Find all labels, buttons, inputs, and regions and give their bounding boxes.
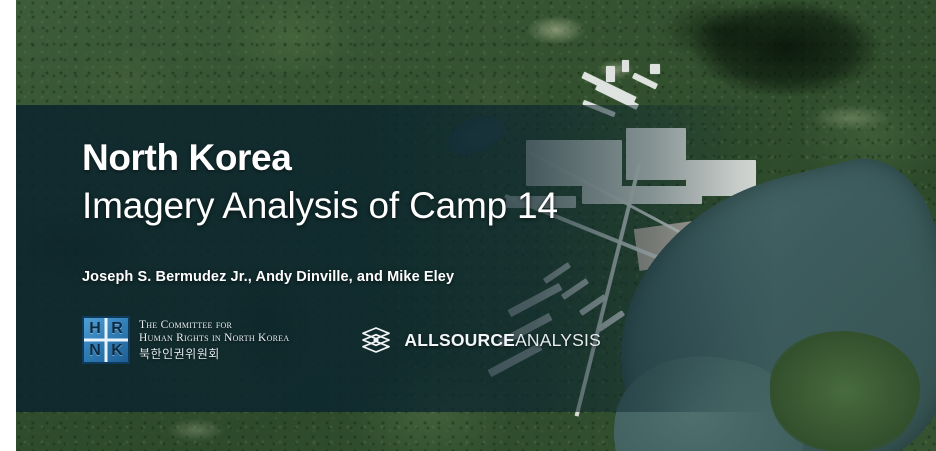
- allsource-word-bold: ALLSOURCE: [404, 330, 515, 350]
- hrnk-letter-k: K: [106, 340, 128, 362]
- hrnk-line-korean: 북한인권위원회: [139, 347, 289, 361]
- page-subtitle: Imagery Analysis of Camp 14: [82, 186, 782, 225]
- vegetated-island: [770, 331, 920, 451]
- title-slide: North Korea Imagery Analysis of Camp 14 …: [0, 0, 936, 451]
- hrnk-line-2: Human Rights in North Korea: [139, 332, 289, 346]
- hrnk-logo[interactable]: H R N K The Committee for Human Rights i…: [82, 316, 289, 364]
- allsource-stacked-hexagon-icon: [359, 325, 393, 355]
- title-block: North Korea Imagery Analysis of Camp 14 …: [82, 138, 782, 285]
- logo-row: H R N K The Committee for Human Rights i…: [82, 316, 601, 364]
- hrnk-logo-icon: H R N K: [82, 316, 130, 364]
- page-title: North Korea: [82, 138, 782, 177]
- hrnk-line-1: The Committee for: [139, 319, 289, 333]
- hrnk-wordmark: The Committee for Human Rights in North …: [139, 319, 289, 361]
- allsource-wordmark: ALLSOURCEANALYSIS: [404, 330, 601, 351]
- hrnk-letter-n: N: [84, 340, 106, 362]
- authors-line: Joseph S. Bermudez Jr., Andy Dinville, a…: [82, 269, 782, 285]
- allsource-word-light: ANALYSIS: [515, 330, 601, 350]
- hrnk-letter-r: R: [106, 318, 128, 340]
- hrnk-letter-h: H: [84, 318, 106, 340]
- allsource-analysis-logo[interactable]: ALLSOURCEANALYSIS: [359, 325, 601, 355]
- left-page-margin: [0, 0, 16, 451]
